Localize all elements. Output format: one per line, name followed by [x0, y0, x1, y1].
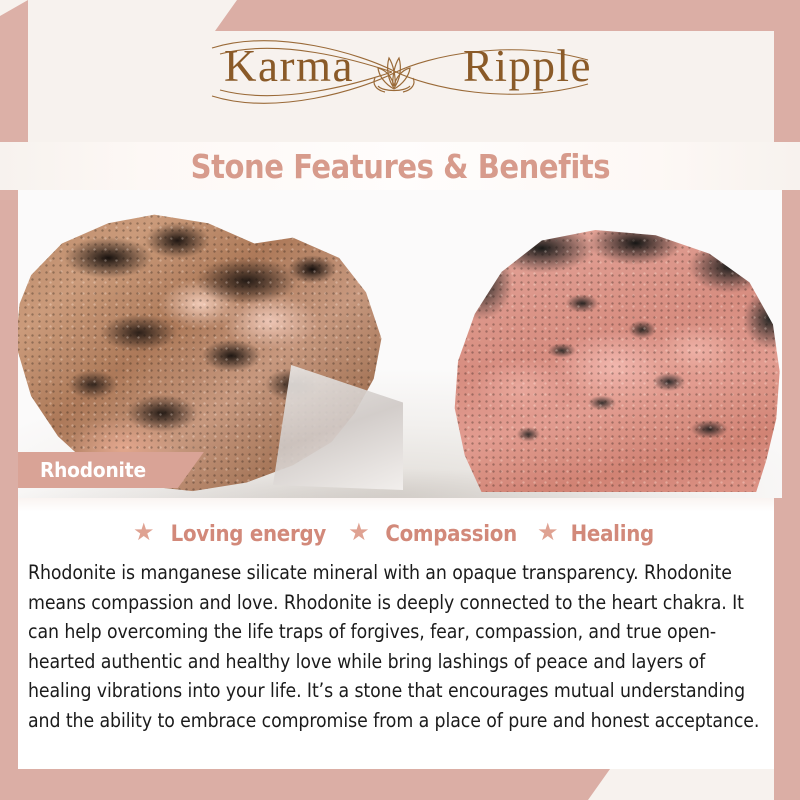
lotus-flower-icon: [374, 58, 414, 92]
quartz-inclusion: [273, 365, 403, 490]
stone-description-text: Rhodonite is manganese silicate mineral …: [28, 558, 774, 735]
star-icon: ★: [537, 521, 559, 545]
feature-list: ★ Loving energy ★ Compassion ★ Healing: [18, 517, 774, 551]
description-panel: ★ Loving energy ★ Compassion ★ Healing R…: [18, 498, 774, 769]
panel-top-fade: [18, 498, 774, 512]
brand-name-left: Karma: [224, 40, 354, 92]
stone-name-label: Rhodonite: [40, 458, 146, 482]
feature-label: Healing: [571, 522, 654, 547]
decorative-band-left: [0, 196, 18, 800]
rhodonite-specimen-right: [448, 230, 782, 492]
page-title: Stone Features & Benefits: [190, 147, 610, 186]
feature-item-0: ★ Loving energy: [133, 522, 335, 547]
star-icon: ★: [133, 521, 155, 545]
rhodonite-stones-photo: [18, 190, 782, 498]
brand-name-right: Ripple: [463, 40, 592, 92]
stone-name-badge: Rhodonite: [18, 452, 204, 488]
decorative-band-top: [215, 0, 800, 31]
page-title-banner: Stone Features & Benefits: [0, 142, 800, 190]
feature-label: Compassion: [385, 522, 517, 547]
star-icon: ★: [348, 521, 370, 545]
feature-label: Loving energy: [171, 522, 326, 547]
stone-info-card: Karma Ripple Stone Features & Benefits R…: [0, 0, 800, 800]
decorative-band-bottom: [0, 769, 610, 800]
feature-item-1: ★ Compassion: [348, 522, 524, 547]
feature-item-2: ★ Healing: [537, 522, 659, 547]
brand-logo: Karma Ripple: [0, 34, 800, 110]
